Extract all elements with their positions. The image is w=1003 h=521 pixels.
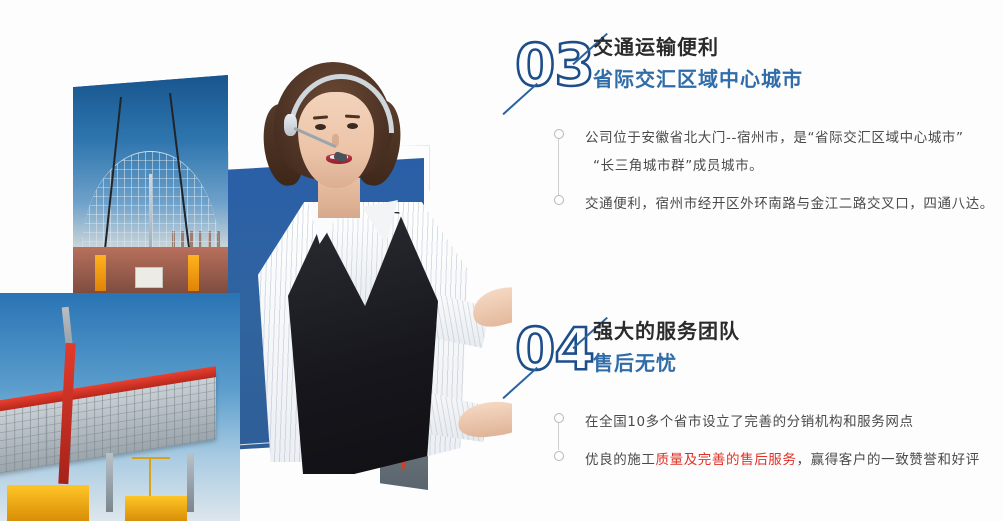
mobile-crane: [188, 255, 199, 290]
section-number-03: 03: [505, 36, 591, 98]
section-subheading: 售后无忧: [593, 346, 740, 380]
mobile-crane: [95, 255, 106, 290]
bullet-dot-icon: [554, 451, 564, 461]
bullet-dot-icon: [554, 129, 564, 139]
section-number-text: 04: [515, 320, 594, 378]
list-item: 公司位于安徽省北大门--宿州市，是“省际交汇区域中心城市” “长三角城市群”成员…: [551, 124, 1003, 180]
support-column: [106, 453, 113, 512]
bullet-text-highlight: 质量及完善的售后服务: [656, 452, 797, 468]
section-headings-04: 强大的服务团队 售后无忧: [593, 316, 740, 380]
bullet-list-03: 公司位于安徽省北大门--宿州市，是“省际交汇区域中心城市” “长三角城市群”成员…: [551, 124, 1003, 228]
tower-crane: [149, 457, 151, 498]
support-column: [187, 453, 194, 512]
section-heading: 交通运输便利: [593, 32, 803, 62]
yellow-crane-truck: [7, 485, 89, 521]
list-item: 交通便利，宿州市经开区外环南路与金江二路交叉口，四通八达。: [551, 190, 1003, 218]
bullet-dot-icon: [554, 195, 564, 205]
section-subheading: 省际交汇区域中心城市: [593, 62, 803, 96]
section-headings-03: 交通运输便利 省际交汇区域中心城市: [593, 32, 803, 96]
bullet-text-line1: 在全国10多个省市设立了完善的分销机构和服务网点: [585, 414, 914, 430]
steel-canopy-construction-photo: [0, 293, 240, 521]
list-item: 在全国10多个省市设立了完善的分销机构和服务网点: [551, 408, 1003, 436]
image-collage: [0, 0, 500, 521]
bullet-text-suffix: ，赢得客户的一致赞誉和好评: [797, 452, 980, 468]
site-shed: [135, 267, 163, 289]
bullet-text-prefix: 优良的施工: [585, 452, 656, 468]
bullet-text: 交通便利，宿州市经开区外环南路与金江二路交叉口，四通八达。: [585, 190, 1003, 218]
section-heading: 强大的服务团队: [593, 316, 740, 346]
yellow-crane-truck: [125, 496, 187, 521]
list-item: 优良的施工质量及完善的售后服务，赢得客户的一致赞誉和好评: [551, 446, 1003, 474]
section-number-text: 03: [515, 36, 594, 94]
bullet-list-04: 在全国10多个省市设立了完善的分销机构和服务网点 优良的施工质量及完善的售后服务…: [551, 408, 1003, 484]
bullet-text-line2: “长三角城市群”成员城市。: [585, 152, 1003, 180]
section-number-04: 04: [505, 320, 591, 382]
bullet-text-line1: 交通便利，宿州市经开区外环南路与金江二路交叉口，四通八达。: [585, 196, 994, 212]
page-root: 03 交通运输便利 省际交汇区域中心城市 公司位于安徽省北大门--宿州市，是“省…: [0, 0, 1003, 521]
bullet-dot-icon: [554, 413, 564, 423]
bullet-text-line1: 公司位于安徽省北大门--宿州市，是“省际交汇区域中心城市”: [585, 130, 964, 146]
headset-earpiece-icon: [284, 114, 297, 136]
bullet-text: 公司位于安徽省北大门--宿州市，是“省际交汇区域中心城市” “长三角城市群”成员…: [585, 124, 1003, 180]
bullet-text: 在全国10多个省市设立了完善的分销机构和服务网点: [585, 408, 1003, 436]
customer-service-agent-photo: [222, 52, 512, 498]
tower-crane-jib: [132, 457, 170, 459]
space-frame-dome-construction-photo: [73, 75, 228, 295]
bullet-text: 优良的施工质量及完善的售后服务，赢得客户的一致赞誉和好评: [585, 446, 1003, 474]
